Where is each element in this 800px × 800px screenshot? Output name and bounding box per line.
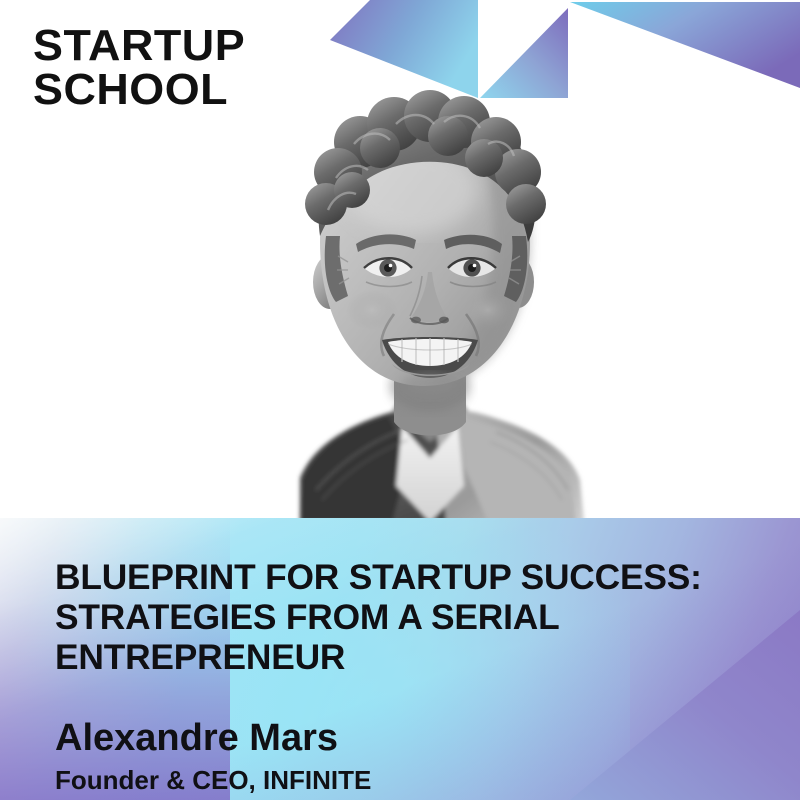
speaker-announcement-poster: STARTUP SCHOOL BLUEPRINT FOR STARTUP SUC… [0,0,800,800]
startup-school-logo: STARTUP SCHOOL [33,24,241,111]
logo-line-2: SCHOOL [33,68,245,112]
talk-title: BLUEPRINT FOR STARTUP SUCCESS: STRATEGIE… [55,558,762,678]
speaker-portrait-photo [196,86,662,520]
logo-line-1: STARTUP [33,24,245,68]
info-band: BLUEPRINT FOR STARTUP SUCCESS: STRATEGIE… [0,518,800,800]
speaker-name: Alexandre Mars [55,718,760,759]
speaker-block: Alexandre Mars Founder & CEO, INFINITE [55,718,760,796]
speaker-role: Founder & CEO, INFINITE [55,765,760,796]
band-text-content: BLUEPRINT FOR STARTUP SUCCESS: STRATEGIE… [55,558,760,796]
